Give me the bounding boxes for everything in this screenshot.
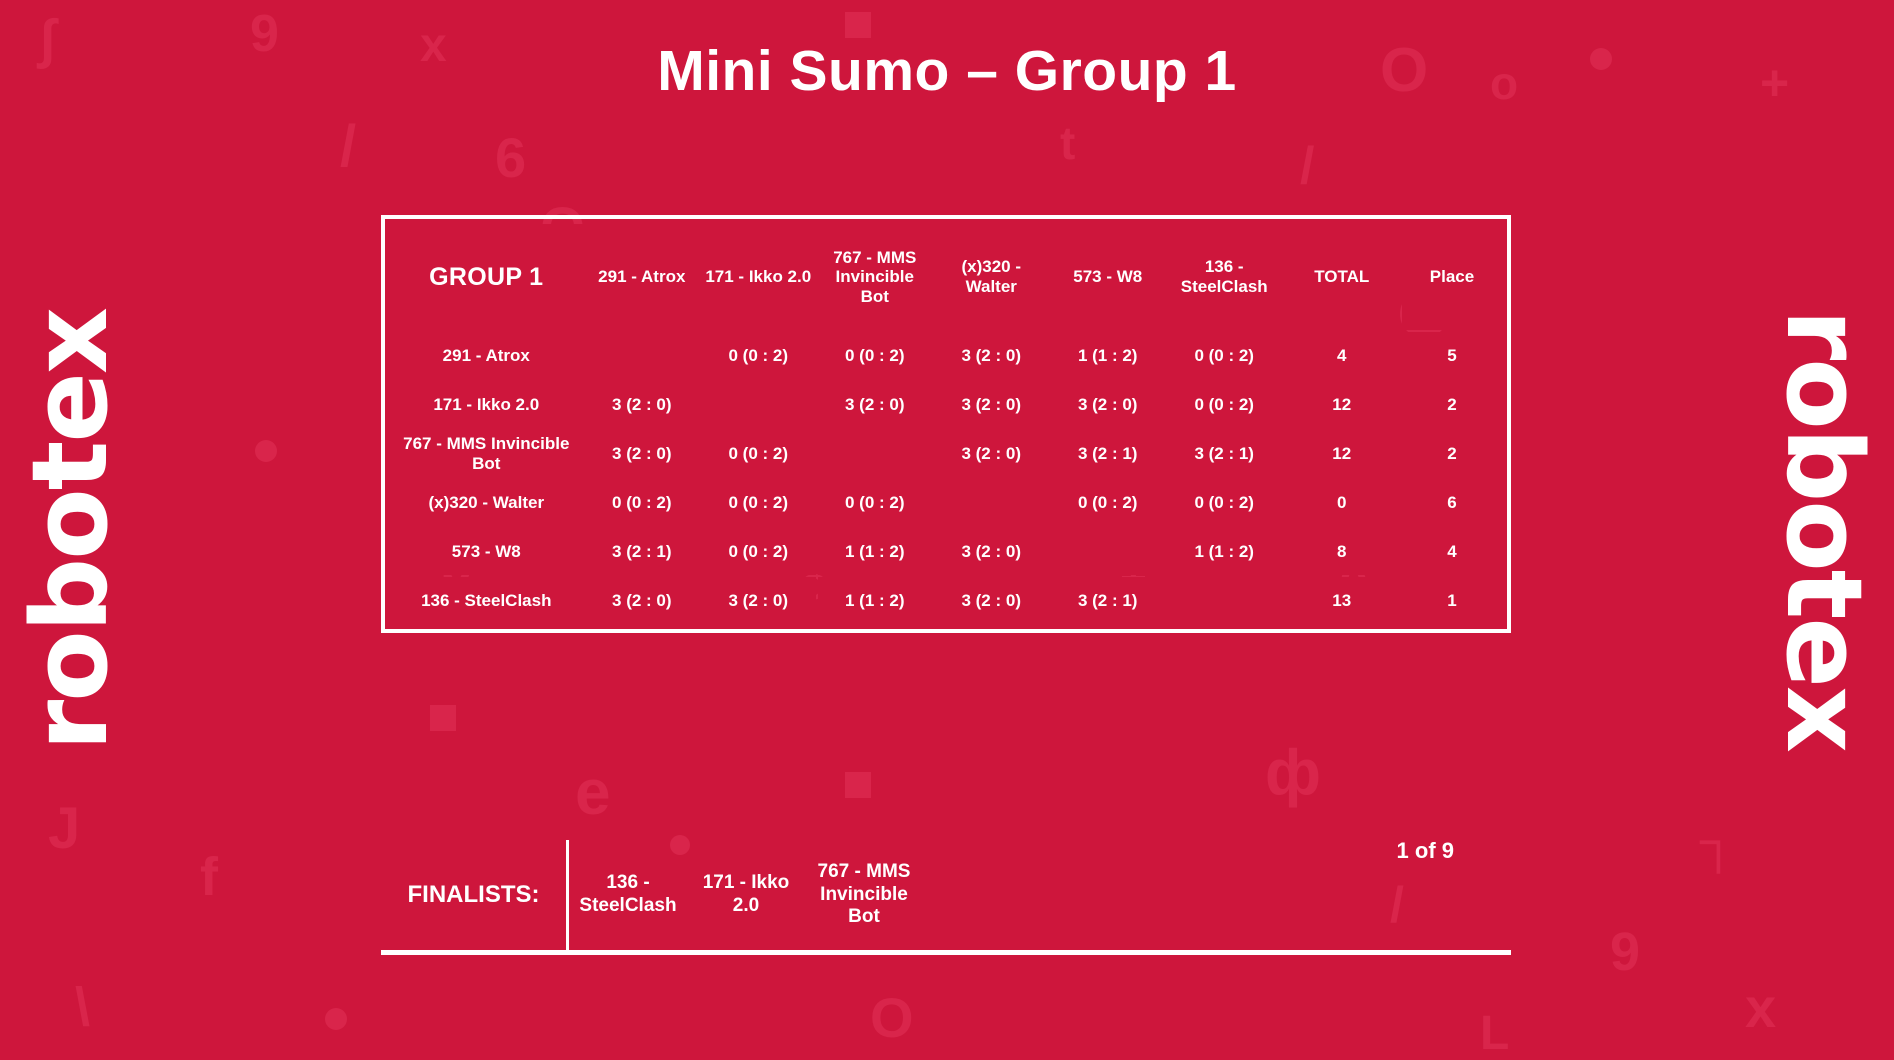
table-row: 136 - SteelClash3 (2 : 0)3 (2 : 0)1 (1 :… (390, 577, 1502, 624)
match-cell: 1 (1 : 2) (818, 528, 932, 575)
match-cell: 1 (1 : 2) (1050, 332, 1164, 379)
match-cell: 1 (1 : 2) (818, 577, 932, 624)
standings-table: GROUP 1 291 - Atrox171 - Ikko 2.0767 - M… (388, 222, 1504, 626)
match-cell: 3 (2 : 0) (818, 381, 932, 428)
finalists-label: FINALISTS: (381, 881, 566, 909)
match-cell: 0 (0 : 2) (1167, 332, 1281, 379)
column-header-bot-0: 291 - Atrox (585, 224, 699, 330)
total-value: 0 (1283, 479, 1400, 526)
finalists-entries: 136 - SteelClash171 - Ikko 2.0767 - MMS … (569, 861, 923, 929)
decor-glyph: ┐ (1700, 815, 1737, 867)
page-counter: 1 of 9 (1397, 838, 1454, 864)
decor-glyph: ф (1265, 740, 1321, 804)
place-value: 1 (1402, 577, 1502, 624)
place-value: 4 (1402, 528, 1502, 575)
row-label-3: (x)320 - Walter (390, 479, 583, 526)
row-label-4: 573 - W8 (390, 528, 583, 575)
decor-glyph: e (575, 760, 611, 824)
match-cell: 1 (1 : 2) (1167, 528, 1281, 575)
table-row: 291 - Atrox0 (0 : 2)0 (0 : 2)3 (2 : 0)1 … (390, 332, 1502, 379)
total-value: 12 (1283, 381, 1400, 428)
match-cell: 3 (2 : 0) (701, 577, 815, 624)
robotex-logo-right-text: robotex (1763, 309, 1885, 751)
corner-header: GROUP 1 (390, 224, 583, 330)
place-value: 2 (1402, 430, 1502, 477)
match-cell: 3 (2 : 0) (934, 577, 1048, 624)
finalist-entry-0: 136 - SteelClash (569, 872, 687, 918)
column-header-bot-1: 171 - Ikko 2.0 (701, 224, 815, 330)
match-cell: 3 (2 : 0) (934, 430, 1048, 477)
finalists-underline (381, 950, 1511, 955)
match-cell: 0 (0 : 2) (1050, 479, 1164, 526)
match-cell-empty (818, 430, 932, 477)
decor-glyph: / (340, 118, 356, 176)
table-row: 767 - MMS Invincible Bot3 (2 : 0)0 (0 : … (390, 430, 1502, 477)
decor-shape-dot (325, 1008, 347, 1030)
column-header-total: TOTAL (1283, 224, 1400, 330)
decor-shape-sq (430, 705, 456, 731)
match-cell: 3 (2 : 1) (585, 528, 699, 575)
match-cell: 3 (2 : 0) (585, 430, 699, 477)
column-header-bot-4: 573 - W8 (1050, 224, 1164, 330)
column-header-place: Place (1402, 224, 1502, 330)
match-cell: 0 (0 : 2) (701, 479, 815, 526)
match-cell-empty (701, 381, 815, 428)
table-row: 171 - Ikko 2.03 (2 : 0)3 (2 : 0)3 (2 : 0… (390, 381, 1502, 428)
match-cell: 3 (2 : 1) (1167, 430, 1281, 477)
match-cell: 3 (2 : 0) (1050, 381, 1164, 428)
match-cell: 0 (0 : 2) (701, 332, 815, 379)
match-cell: 3 (2 : 0) (934, 528, 1048, 575)
total-value: 8 (1283, 528, 1400, 575)
decor-glyph: L (1480, 1010, 1509, 1058)
match-cell-empty (1167, 577, 1281, 624)
place-value: 5 (1402, 332, 1502, 379)
table-row: 573 - W83 (2 : 1)0 (0 : 2)1 (1 : 2)3 (2 … (390, 528, 1502, 575)
match-cell-empty (1050, 528, 1164, 575)
robotex-logo-right: robotex (1754, 0, 1894, 1060)
match-cell: 0 (0 : 2) (818, 479, 932, 526)
place-value: 2 (1402, 381, 1502, 428)
total-value: 12 (1283, 430, 1400, 477)
total-value: 13 (1283, 577, 1400, 624)
match-cell: 3 (2 : 1) (1050, 577, 1164, 624)
column-header-bot-3: (x)320 - Walter (934, 224, 1048, 330)
decor-glyph: 9 (1610, 925, 1640, 979)
row-label-2: 767 - MMS Invincible Bot (390, 430, 583, 477)
match-cell-empty (585, 332, 699, 379)
match-cell: 3 (2 : 0) (585, 577, 699, 624)
finalists-row: FINALISTS: 136 - SteelClash171 - Ikko 2.… (381, 840, 1511, 950)
match-cell: 3 (2 : 0) (934, 332, 1048, 379)
robotex-logo-left: robotex (0, 0, 140, 1060)
match-cell-empty (934, 479, 1048, 526)
finalist-entry-2: 767 - MMS Invincible Bot (805, 861, 923, 929)
place-value: 6 (1402, 479, 1502, 526)
match-cell: 0 (0 : 2) (818, 332, 932, 379)
decor-shape-sq (845, 12, 871, 38)
match-cell: 0 (0 : 2) (701, 528, 815, 575)
robotex-logo-left-text: robotex (9, 309, 131, 751)
decor-glyph: t (1060, 120, 1075, 166)
total-value: 4 (1283, 332, 1400, 379)
match-cell: 3 (2 : 0) (585, 381, 699, 428)
decor-glyph: 6 (495, 130, 526, 186)
match-cell: 3 (2 : 0) (934, 381, 1048, 428)
decor-glyph: O (870, 990, 914, 1046)
match-cell: 0 (0 : 2) (1167, 479, 1281, 526)
row-label-0: 291 - Atrox (390, 332, 583, 379)
row-label-5: 136 - SteelClash (390, 577, 583, 624)
finalist-entry-1: 171 - Ikko 2.0 (687, 872, 805, 918)
column-header-bot-5: 136 - SteelClash (1167, 224, 1281, 330)
match-cell: 0 (0 : 2) (585, 479, 699, 526)
table-header-row: GROUP 1 291 - Atrox171 - Ikko 2.0767 - M… (390, 224, 1502, 330)
decor-shape-dot (255, 440, 277, 462)
column-header-bot-2: 767 - MMS Invincible Bot (818, 224, 932, 330)
decor-glyph: f (200, 850, 218, 904)
page-title: Mini Sumo – Group 1 (0, 38, 1894, 104)
standings-table-frame: GROUP 1 291 - Atrox171 - Ikko 2.0767 - M… (381, 215, 1511, 633)
match-cell: 0 (0 : 2) (1167, 381, 1281, 428)
match-cell: 3 (2 : 1) (1050, 430, 1164, 477)
decor-shape-sq (845, 772, 871, 798)
decor-glyph: / (1300, 140, 1314, 192)
table-row: (x)320 - Walter0 (0 : 2)0 (0 : 2)0 (0 : … (390, 479, 1502, 526)
finalists-block: FINALISTS: 136 - SteelClash171 - Ikko 2.… (381, 840, 1511, 955)
match-cell: 0 (0 : 2) (701, 430, 815, 477)
row-label-1: 171 - Ikko 2.0 (390, 381, 583, 428)
